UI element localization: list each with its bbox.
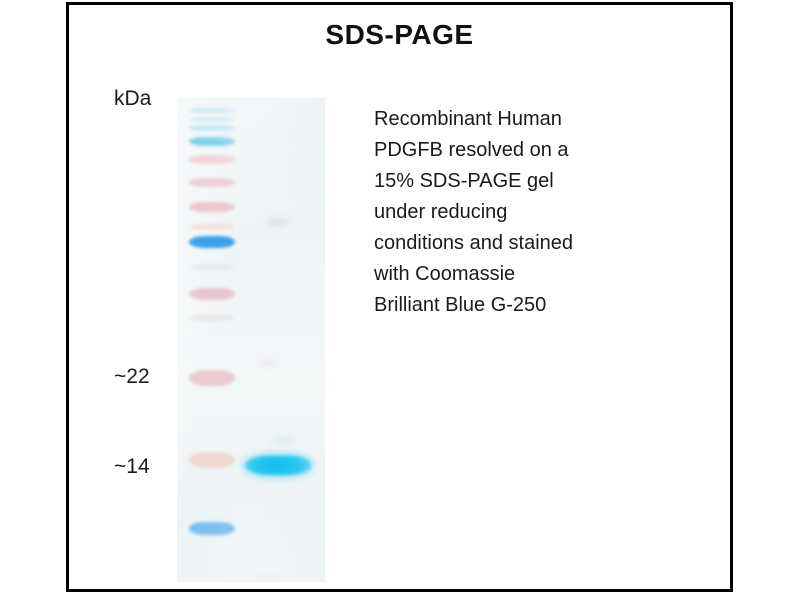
ladder-band (189, 178, 235, 187)
caption-line: 15% SDS-PAGE gel (374, 166, 664, 197)
ladder-band (189, 224, 235, 230)
ladder-band (189, 452, 235, 468)
ladder-band (189, 125, 235, 131)
ladder-band (189, 315, 235, 321)
gel-smudge (267, 218, 289, 225)
caption-line: conditions and stained (374, 228, 664, 259)
gel-smudge (271, 436, 295, 444)
caption-line: with Coomassie (374, 259, 664, 290)
ladder-band (189, 288, 235, 300)
ladder-band (189, 522, 235, 535)
gel-lane-sample (241, 98, 321, 582)
ladder-band (189, 370, 235, 386)
ladder-band (189, 236, 235, 248)
gel-smudge (259, 360, 277, 366)
page-title: SDS-PAGE (69, 19, 730, 51)
ladder-band (189, 202, 235, 212)
caption-line: Recombinant Human (374, 104, 664, 135)
caption-line: Brilliant Blue G-250 (374, 290, 664, 321)
ladder-band (189, 137, 235, 146)
ladder-band (189, 108, 235, 113)
gel-lane-ladder (187, 98, 237, 582)
figure-caption: Recombinant HumanPDGFB resolved on a15% … (374, 104, 664, 321)
caption-line: under reducing (374, 197, 664, 228)
gel-smudge (253, 576, 283, 582)
sample-band-pdgfb (245, 456, 311, 475)
caption-line: PDGFB resolved on a (374, 135, 664, 166)
ladder-band (189, 155, 235, 164)
mw-marker-22: ~22 (114, 365, 150, 389)
ladder-band (189, 264, 235, 271)
gel-image (177, 98, 325, 582)
mw-marker-14: ~14 (114, 455, 150, 479)
ladder-band (189, 117, 235, 122)
axis-unit-label: kDa (114, 87, 151, 111)
